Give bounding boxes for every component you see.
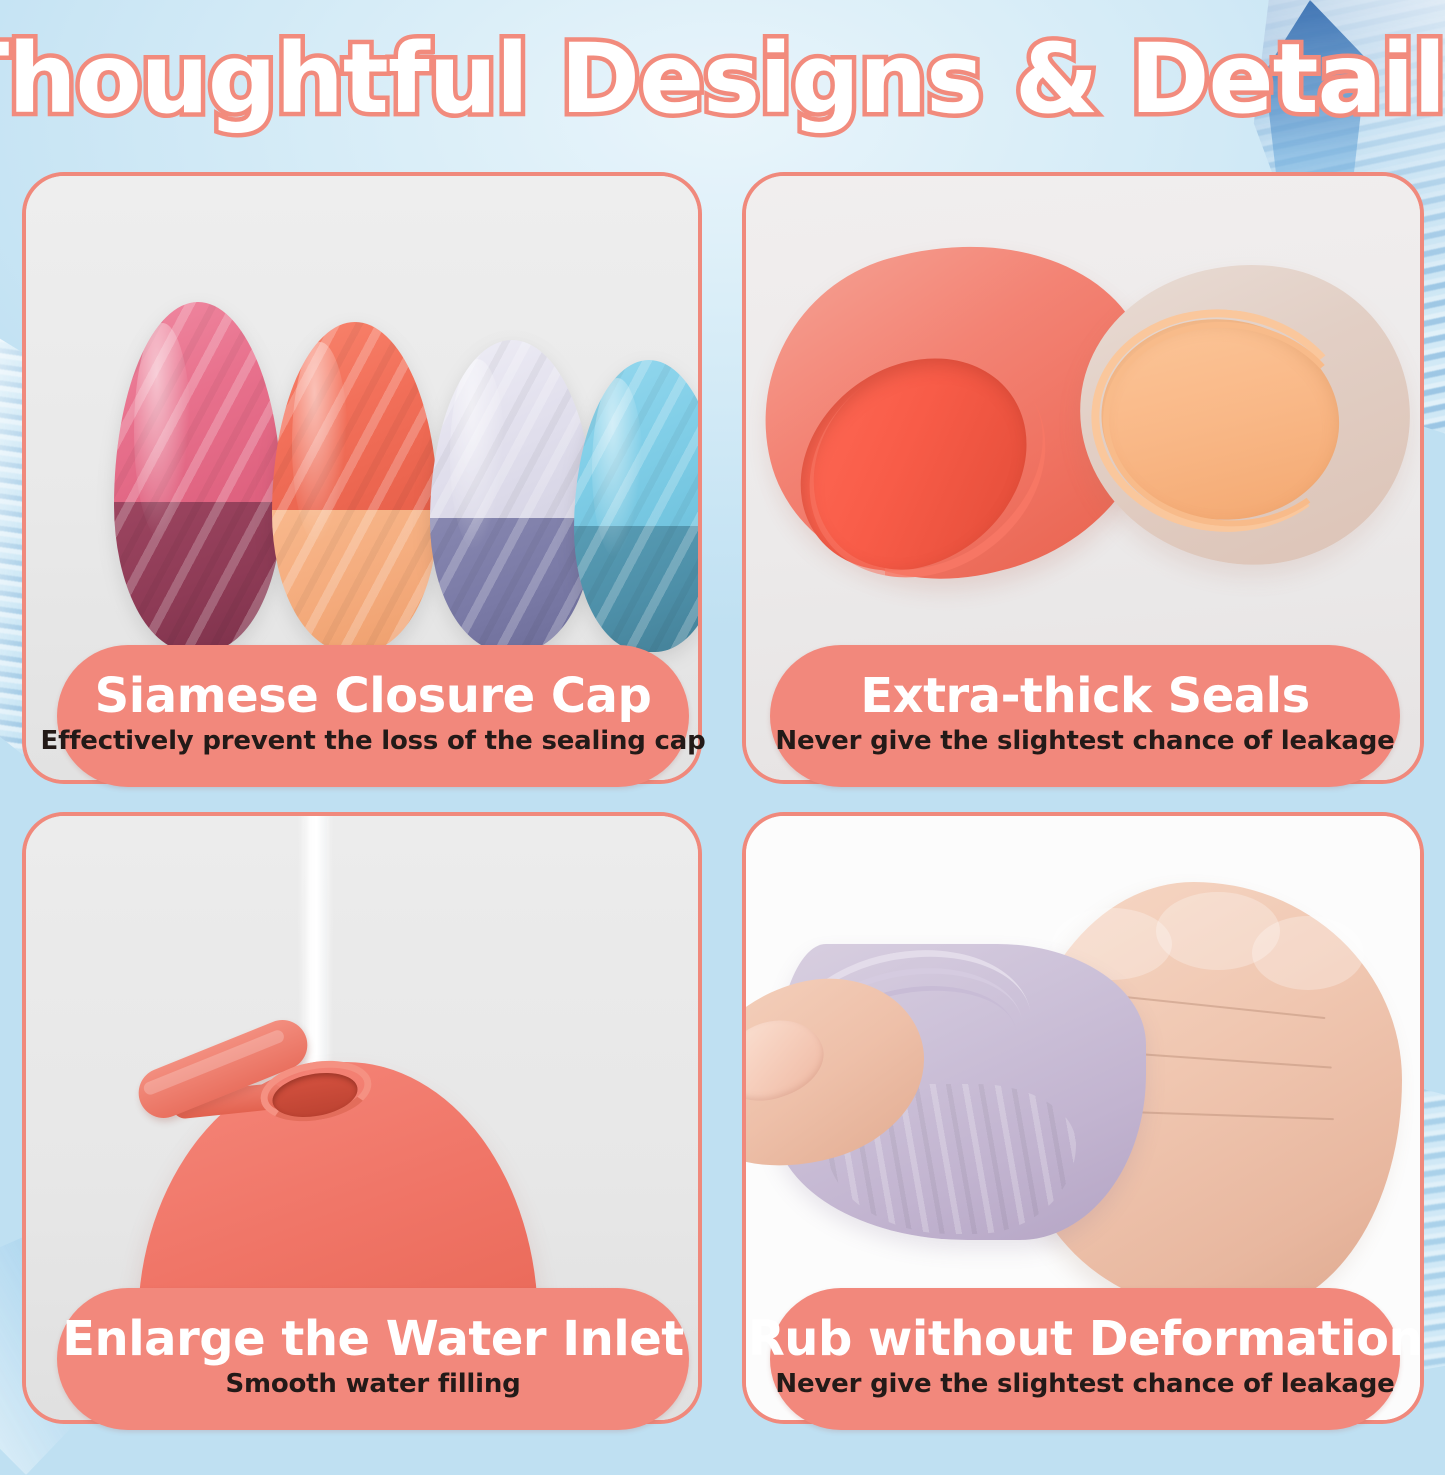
product-pink-plum-bottle (114, 302, 282, 652)
bottle-highlight (592, 378, 643, 559)
page-title: Thoughtful Designs & Details (0, 23, 1445, 135)
caption-siamese-closure-cap: Siamese Closure Cap Effectively prevent … (57, 645, 689, 787)
caption-enlarge-the-water-inlet: Enlarge the Water Inlet Smooth water fil… (57, 1288, 689, 1430)
bottle-bottom-teal (574, 526, 702, 652)
bottle-highlight (450, 359, 506, 552)
caption-subtitle: Never give the slightest chance of leaka… (775, 1370, 1394, 1399)
knuckle (1252, 916, 1364, 990)
bottle-highlight (134, 323, 191, 540)
caption-title: Rub without Deformation (748, 1315, 1422, 1364)
bottle-highlight (292, 342, 348, 547)
caption-title: Enlarge the Water Inlet (62, 1315, 683, 1364)
product-lavender-periwinkle-bottle (430, 340, 594, 652)
caption-extra-thick-seals: Extra-thick Seals Never give the slighte… (770, 645, 1400, 787)
bottle-bottom-plum (114, 502, 282, 653)
caption-subtitle: Effectively prevent the loss of the seal… (41, 727, 706, 756)
caption-subtitle: Never give the slightest chance of leaka… (775, 727, 1394, 756)
caption-rub-without-deformation: Rub without Deformation Never give the s… (770, 1288, 1400, 1430)
bottle-bottom-periwinkle (430, 518, 594, 652)
caption-subtitle: Smooth water filling (225, 1370, 520, 1399)
product-coral-peach-bottle (272, 322, 438, 652)
product-skyblue-teal-bottle (574, 360, 702, 652)
page-header: Thoughtful Designs & Details (0, 14, 1445, 144)
caption-title: Extra-thick Seals (860, 672, 1309, 721)
product-peach-seal-bottle (1065, 248, 1424, 581)
bottle-bottom-peach (272, 510, 438, 652)
caption-title: Siamese Closure Cap (95, 672, 652, 721)
